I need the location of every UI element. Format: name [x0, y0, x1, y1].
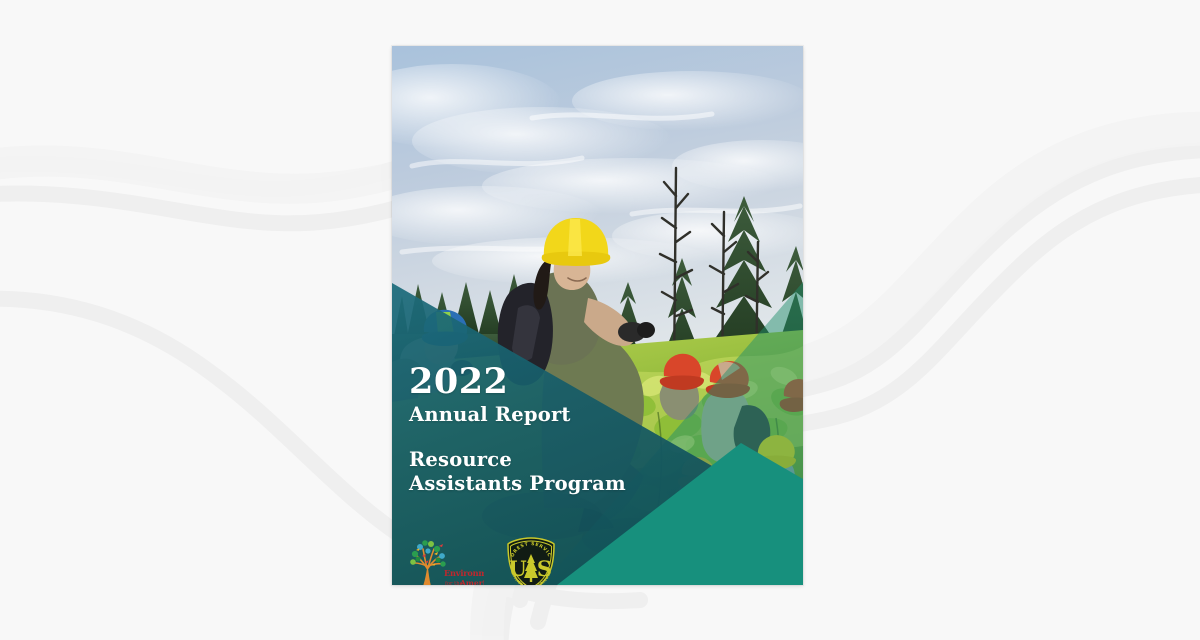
environment-for-the-americas-logo[interactable]: Environment for the Americas: [410, 538, 484, 585]
report-subtitle: Annual Report: [409, 403, 729, 426]
report-year: 2022: [409, 364, 729, 399]
cover-logo-row: Environment for the Americas FOREST SERV…: [410, 536, 558, 585]
cover-photograph: [392, 46, 803, 585]
svg-text:S: S: [537, 556, 552, 581]
svg-text:Environment: Environment: [444, 568, 484, 578]
annual-report-cover-card[interactable]: 2022 Annual Report Resource Assistants P…: [392, 46, 803, 585]
cover-title-block: 2022 Annual Report Resource Assistants P…: [409, 364, 729, 496]
usda-forest-service-shield-logo[interactable]: FOREST SERVICE DEPARTMENT OF AGRICULTURE…: [504, 536, 558, 585]
program-name: Resource Assistants Program: [409, 448, 729, 496]
program-name-line-1: Resource: [409, 448, 729, 472]
svg-text:U: U: [508, 556, 526, 581]
program-name-line-2: Assistants Program: [409, 472, 729, 496]
svg-text:Americas: Americas: [459, 579, 484, 586]
